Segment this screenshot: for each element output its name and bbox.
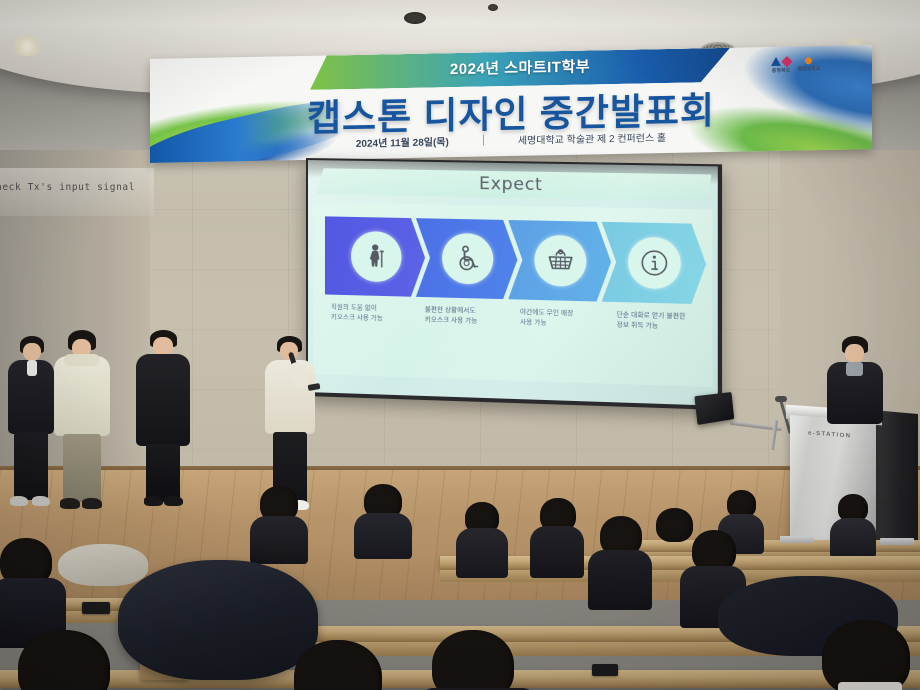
audience-head bbox=[294, 640, 382, 690]
caption-step-2-line2: 키오스크 사용 가능 bbox=[425, 315, 512, 327]
audience-person-d2 bbox=[4, 630, 136, 690]
presenter-2-hood bbox=[64, 354, 100, 366]
presenter-3-coat bbox=[136, 354, 190, 446]
banner-location: 세명대학교 학술관 제 2 컨퍼런스 홀 bbox=[518, 129, 666, 147]
podium-speaker bbox=[826, 336, 884, 432]
caption-step-3: 야간에도 무인 매장 사용 가능 bbox=[512, 307, 608, 344]
chevron-step-4 bbox=[602, 222, 706, 304]
wheelchair-icon bbox=[442, 233, 493, 285]
caption-step-1-line2: 키오스크 사용 가능 bbox=[331, 312, 417, 324]
podium-speaker-face bbox=[845, 344, 864, 363]
audience-person-d3 bbox=[278, 640, 408, 690]
audience-person-d5-collar bbox=[838, 682, 902, 690]
chevron-step-3 bbox=[508, 220, 611, 302]
event-banner: 2024년 스마트IT학부 캡스톤 디자인 중간발표회 2024년 11월 28… bbox=[150, 45, 872, 163]
audience-body bbox=[588, 550, 652, 610]
audience-area bbox=[0, 480, 920, 690]
banner-divider bbox=[483, 135, 484, 146]
projection-screen: Expect bbox=[306, 158, 722, 410]
audience-person-d1 bbox=[0, 538, 66, 638]
smartphone-icon bbox=[592, 664, 618, 676]
diamond-icon bbox=[781, 56, 792, 67]
chevron-captions-row: 직원의 도움 없이 키오스크 사용 가능 불편한 상황에서도 키오스크 사용 가… bbox=[323, 302, 706, 347]
province-logo-caption: 충청북도 bbox=[772, 67, 790, 74]
caption-step-2: 불편한 상황에서도 키오스크 사용 가능 bbox=[417, 305, 512, 342]
audience-body bbox=[354, 513, 412, 559]
audience-person-b1 bbox=[456, 502, 508, 576]
audience-person-d5 bbox=[810, 620, 920, 690]
logo-shapes-group bbox=[771, 57, 791, 66]
smartphone-icon bbox=[82, 602, 110, 614]
caption-step-4: 단순 대화로 얻기 불편한 정보 취득 가능 bbox=[608, 310, 706, 348]
slide-body: 직원의 도움 없이 키오스크 사용 가능 불편한 상황에서도 키오스크 사용 가… bbox=[313, 202, 712, 387]
aux-projection-area: heck Tx's input signal bbox=[0, 168, 154, 216]
banner-date: 2024년 11월 28일(목) bbox=[356, 133, 449, 150]
coat-pile-2 bbox=[58, 544, 148, 586]
presenter-1-shirt bbox=[27, 360, 37, 376]
laptop-row-1 bbox=[780, 536, 814, 543]
university-logo: 세명대학교 bbox=[797, 57, 820, 72]
chevron-process-row bbox=[325, 216, 706, 304]
presentation-hall-photo: heck Tx's input signal 2024년 스마트IT학부 캡스톤… bbox=[0, 0, 920, 690]
slide-title: Expect bbox=[479, 174, 542, 195]
chevron-step-1 bbox=[325, 216, 425, 297]
audience-person-c1 bbox=[250, 486, 308, 556]
audience-person-a2 bbox=[830, 494, 876, 552]
podium-microphone-head bbox=[775, 396, 787, 402]
ceiling-sensor-icon bbox=[488, 4, 498, 11]
presenter-1-face bbox=[23, 343, 41, 361]
aux-projection-text: heck Tx's input signal bbox=[0, 182, 135, 193]
presenter-2-hoodie bbox=[54, 356, 110, 436]
audience-body bbox=[456, 528, 508, 578]
triangle-icon bbox=[771, 57, 781, 66]
audience-person-c3 bbox=[588, 516, 652, 604]
ceiling-projector-box bbox=[404, 12, 426, 24]
ceiling-downlight-icon bbox=[10, 36, 44, 56]
audience-head bbox=[822, 620, 910, 690]
audience-person-b2 bbox=[530, 498, 584, 576]
caption-step-1: 직원의 도움 없이 키오스크 사용 가능 bbox=[323, 302, 417, 339]
caption-step-3-line2: 사용 가능 bbox=[520, 317, 608, 329]
banner-logos: 충청북도 세명대학교 bbox=[771, 56, 820, 74]
logo-shapes-group bbox=[805, 57, 812, 64]
chevron-step-2 bbox=[416, 218, 517, 299]
elderly-person-with-cane-icon bbox=[351, 231, 401, 282]
clicker-icon bbox=[308, 383, 321, 391]
podium-speaker-collar bbox=[846, 362, 863, 376]
audience-body bbox=[830, 518, 876, 558]
circle-icon bbox=[805, 57, 812, 64]
shopping-basket-icon bbox=[535, 235, 587, 287]
laptop-row-1-b bbox=[880, 538, 914, 545]
audience-person-d4 bbox=[418, 630, 538, 690]
information-icon bbox=[628, 237, 681, 290]
province-logo: 충청북도 bbox=[771, 57, 791, 74]
audience-person-c2 bbox=[354, 484, 412, 552]
university-logo-caption: 세명대학교 bbox=[797, 65, 820, 72]
caption-step-4-line2: 정보 취득 가능 bbox=[617, 320, 707, 332]
audience-head bbox=[18, 630, 110, 690]
audience-body bbox=[250, 516, 308, 564]
audience-head bbox=[432, 630, 514, 690]
audience-body bbox=[530, 526, 584, 578]
slide-surface: Expect bbox=[308, 160, 718, 406]
